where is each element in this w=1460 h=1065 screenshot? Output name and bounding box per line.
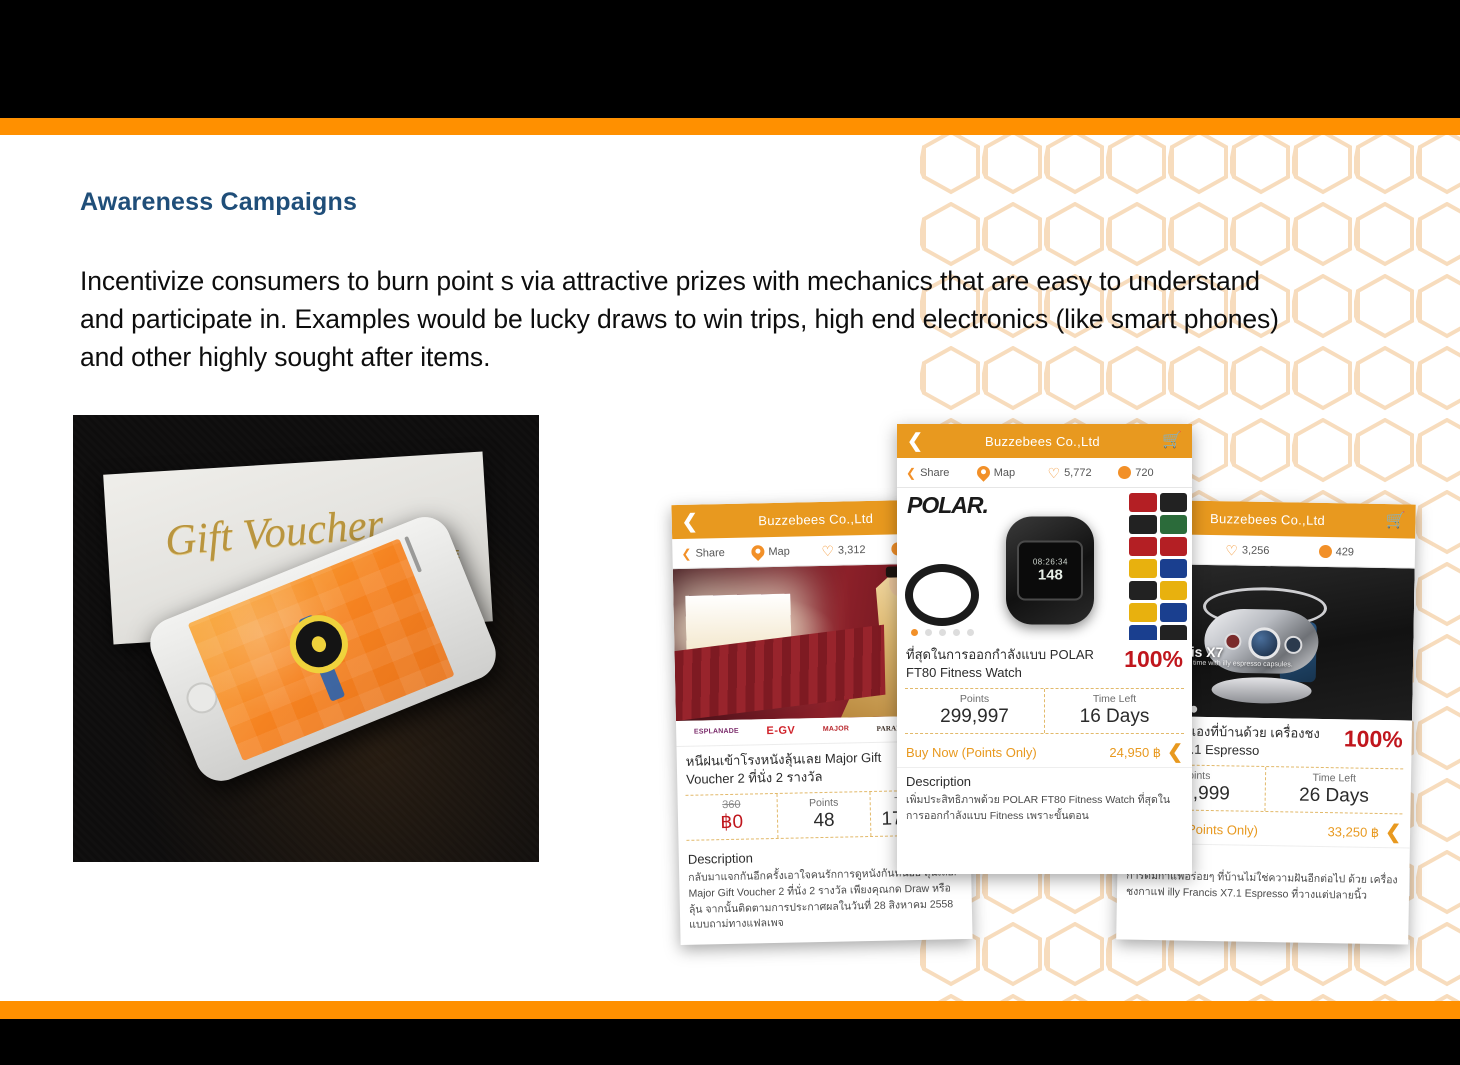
share-label: Share bbox=[920, 467, 949, 479]
stat-points-label: Points bbox=[905, 693, 1044, 705]
feature-badge-icon bbox=[1160, 603, 1188, 622]
card-product-title: ที่สุดในการออกกำลังแบบ POLAR FT80 Fitnes… bbox=[906, 646, 1119, 681]
card-title-row: ที่สุดในการออกกำลังแบบ POLAR FT80 Fitnes… bbox=[897, 640, 1192, 683]
feature-badge-icon bbox=[1160, 515, 1188, 534]
map-label: Map bbox=[994, 467, 1015, 479]
stat-points-value: 299,997 bbox=[905, 706, 1044, 728]
carousel-dot[interactable] bbox=[925, 629, 932, 636]
gift-voucher-photo: Gift Voucher M O V I E bbox=[73, 415, 539, 862]
map-action[interactable]: Map bbox=[751, 544, 815, 558]
description-text: การดื่มกาแฟอร่อยๆ ที่บ้านไม่ใช่ความฝันอี… bbox=[1126, 869, 1401, 905]
carousel-dot[interactable] bbox=[939, 629, 946, 636]
header-accent-stripe bbox=[0, 118, 1460, 135]
brand-logo-egv: E-GV bbox=[766, 725, 795, 738]
comment-bubble-icon bbox=[1319, 545, 1332, 558]
feature-badge-icon bbox=[1160, 559, 1188, 578]
card-header-title: Buzzebees Co.,Ltd bbox=[1210, 510, 1325, 527]
description-label: Description bbox=[906, 774, 1183, 789]
card-stats-row: Points 299,997 Time Left 16 Days bbox=[905, 688, 1184, 734]
watch-strap-shape bbox=[905, 564, 979, 626]
card-action-bar: ❮ Share Map ♡ 5,772 720 bbox=[897, 458, 1192, 488]
stat-points: Points 48 bbox=[778, 792, 871, 838]
likes-value: 3,256 bbox=[1242, 544, 1270, 556]
card-header-title: Buzzebees Co.,Ltd bbox=[758, 510, 873, 527]
description-text: เพิ่มประสิทธิภาพด้วย POLAR FT80 Fitness … bbox=[906, 793, 1183, 825]
footer-bar bbox=[0, 1019, 1460, 1065]
feature-badge-icon bbox=[1129, 537, 1157, 556]
card-header-title: Buzzebees Co.,Ltd bbox=[985, 434, 1100, 449]
share-icon: ❮ bbox=[906, 467, 916, 479]
feature-badge-icon bbox=[1129, 493, 1157, 512]
comments-counter[interactable]: 720 bbox=[1118, 466, 1183, 479]
buy-now-row[interactable]: Buy Now (Points Only) 24,950 ฿ ❮ bbox=[897, 739, 1192, 768]
brand-logo-major: MAJOR bbox=[823, 726, 849, 735]
watch-body-shape: 08:26:34 148 bbox=[1006, 516, 1094, 624]
comments-value: 429 bbox=[1336, 546, 1355, 558]
map-pin-icon bbox=[974, 463, 992, 481]
comments-value: 720 bbox=[1135, 467, 1153, 479]
stat-time-label: Time Left bbox=[1265, 771, 1403, 785]
feature-badge-icon bbox=[1160, 625, 1188, 640]
stat-time-value: 16 Days bbox=[1045, 706, 1184, 728]
app-card-polar-watch[interactable]: ❮ Buzzebees Co.,Ltd 🛒 ❮ Share Map ♡ 5,77… bbox=[897, 424, 1192, 874]
brand-logo-esplanade: ESPLANADE bbox=[694, 728, 739, 737]
comments-counter[interactable]: 429 bbox=[1319, 545, 1407, 560]
card-header: ❮ Buzzebees Co.,Ltd 🛒 bbox=[897, 424, 1192, 458]
heart-icon: ♡ bbox=[821, 543, 834, 557]
watch-face: 08:26:34 148 bbox=[1017, 540, 1083, 600]
buy-now-price-group: 33,250 ฿ ❮ bbox=[1327, 822, 1401, 842]
chevron-left-icon[interactable]: ❮ bbox=[1167, 743, 1183, 762]
comment-bubble-icon bbox=[1118, 466, 1131, 479]
stat-points: Points 299,997 bbox=[905, 689, 1045, 733]
stat-time-label: Time Left bbox=[1045, 693, 1184, 705]
stat-price-value: ฿0 bbox=[686, 810, 778, 835]
carousel-dot-active[interactable] bbox=[911, 629, 918, 636]
app-logo-icon bbox=[281, 607, 357, 683]
carousel-dots[interactable] bbox=[911, 629, 974, 636]
likes-counter[interactable]: ♡ 3,256 bbox=[1225, 543, 1313, 559]
buy-now-label: Buy Now (Points Only) bbox=[906, 745, 1037, 760]
stat-time-value: 26 Days bbox=[1265, 784, 1403, 808]
share-icon: ❮ bbox=[681, 547, 691, 559]
carousel-dot[interactable] bbox=[967, 629, 974, 636]
map-action[interactable]: Map bbox=[977, 466, 1042, 479]
card-description: Description เพิ่มประสิทธิภาพด้วย POLAR F… bbox=[897, 768, 1192, 825]
footer-accent-stripe bbox=[0, 1001, 1460, 1019]
stat-time-left: Time Left 16 Days bbox=[1045, 689, 1184, 733]
buy-now-price-group: 24,950 ฿ ❮ bbox=[1109, 743, 1183, 762]
stat-points-value: 48 bbox=[778, 809, 870, 833]
polar-brand-logo: POLAR. bbox=[907, 492, 988, 519]
stat-price: 360 ฿0 bbox=[686, 794, 779, 840]
feature-badge-icon bbox=[1129, 559, 1157, 578]
heart-icon: ♡ bbox=[1048, 466, 1061, 480]
share-action[interactable]: ❮ Share bbox=[681, 546, 745, 559]
feature-badge-icon bbox=[1129, 603, 1157, 622]
map-label: Map bbox=[768, 545, 790, 557]
page-title: Awareness Campaigns bbox=[80, 188, 357, 217]
map-pin-icon bbox=[749, 543, 767, 561]
stat-points-label: Points bbox=[778, 796, 870, 810]
feature-badge-icon bbox=[1129, 515, 1157, 534]
description-text: กลับมาแจกกันอีกครั้งเอาใจคนรักการดูหนังก… bbox=[688, 865, 963, 934]
page-body-text: Incentivize consumers to burn point s vi… bbox=[80, 262, 1295, 376]
likes-counter[interactable]: ♡ 5,772 bbox=[1048, 466, 1113, 480]
buy-now-price: 24,950 ฿ bbox=[1109, 745, 1161, 761]
carousel-dot[interactable] bbox=[953, 629, 960, 636]
card-discount-percent: 100% bbox=[1339, 725, 1403, 753]
chevron-left-icon[interactable]: ❮ bbox=[907, 432, 923, 451]
chevron-left-icon[interactable]: ❮ bbox=[1385, 823, 1401, 842]
cart-icon[interactable]: 🛒 bbox=[1385, 513, 1405, 529]
cart-icon[interactable]: 🛒 bbox=[1162, 433, 1182, 449]
app-header-bar bbox=[0, 0, 1460, 118]
share-action[interactable]: ❮ Share bbox=[906, 467, 971, 479]
watch-time-value: 08:26:34 bbox=[1033, 557, 1068, 566]
card-discount-percent: 100% bbox=[1119, 646, 1183, 673]
watch-bpm-value: 148 bbox=[1038, 566, 1063, 583]
feature-badge-icon bbox=[1129, 625, 1157, 640]
likes-counter[interactable]: ♡ 3,312 bbox=[821, 542, 885, 557]
card-hero-image: POLAR. 08:26:34 148 bbox=[897, 488, 1192, 640]
share-label: Share bbox=[695, 546, 725, 559]
watch-artwork: POLAR. 08:26:34 148 bbox=[897, 488, 1192, 640]
chevron-left-icon[interactable]: ❮ bbox=[682, 512, 698, 531]
feature-badge-icon bbox=[1160, 581, 1188, 600]
likes-value: 3,312 bbox=[838, 544, 866, 557]
feature-badge-icon bbox=[1160, 537, 1188, 556]
heart-icon: ♡ bbox=[1225, 543, 1238, 557]
buy-now-price: 33,250 ฿ bbox=[1327, 824, 1379, 841]
feature-badge-icon bbox=[1129, 581, 1157, 600]
likes-value: 5,772 bbox=[1064, 467, 1092, 479]
stat-time-left: Time Left 26 Days bbox=[1265, 767, 1403, 813]
card-product-title: หนีฝนเข้าโรงหนังลุ้นเลย Major Gift Vouch… bbox=[686, 748, 897, 787]
feature-badge-grid bbox=[1129, 493, 1187, 640]
feature-badge-icon bbox=[1160, 493, 1188, 512]
